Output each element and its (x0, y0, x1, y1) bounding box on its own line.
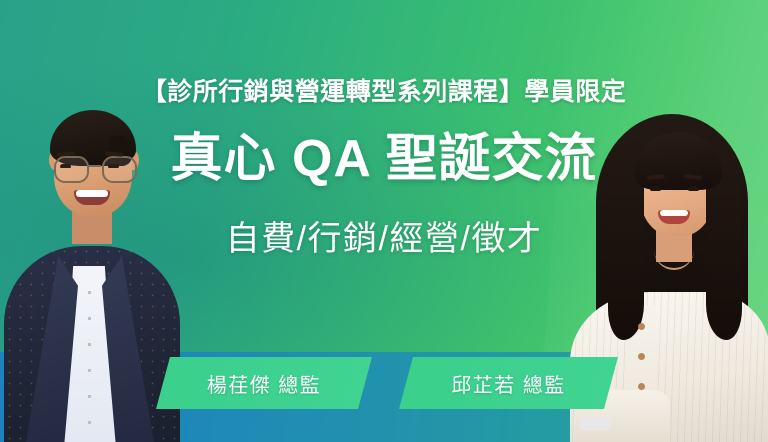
eye-left (650, 186, 661, 191)
speaker-name-ribbon-right: 邱芷若 總監 (399, 357, 618, 409)
cardigan-button (638, 383, 645, 390)
cardigan-button (638, 353, 645, 360)
speaker-name-ribbon-left: 楊荏傑 總監 (156, 357, 372, 409)
eye-right (108, 164, 119, 168)
speaker-name-label: 邱芷若 總監 (451, 369, 566, 398)
eye-left (60, 164, 71, 168)
glasses-bridge (87, 165, 101, 167)
lens-right (102, 156, 137, 183)
eyeglasses-icon (50, 156, 138, 180)
smiling-mouth (658, 210, 690, 224)
wristwatch (580, 417, 610, 430)
eye-right (688, 186, 699, 191)
lens-left (54, 156, 89, 183)
speaker-name-label: 楊荏傑 總監 (207, 369, 322, 398)
cardigan-button (638, 323, 645, 330)
smiling-mouth (74, 190, 110, 205)
speaker-portrait-left (0, 82, 186, 442)
event-poster: 【診所行銷與營運轉型系列課程】學員限定 真心 QA 聖誕交流 自費/行銷/經營/… (0, 0, 768, 442)
